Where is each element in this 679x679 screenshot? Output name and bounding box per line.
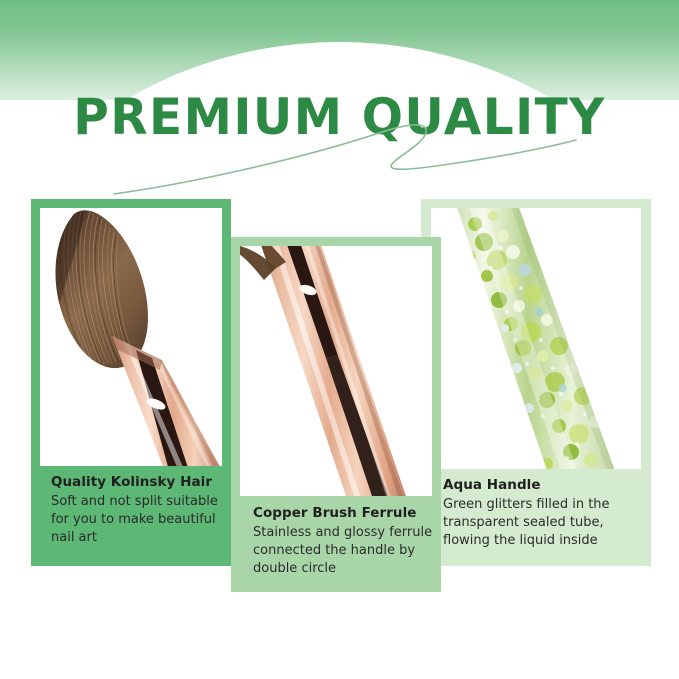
feature-card-aqua-handle: Aqua Handle Green glitters filled in the…	[421, 199, 651, 566]
aqua-handle-text-block: Aqua Handle Green glitters filled in the…	[443, 477, 643, 550]
ferrule-description: Stainless and glossy ferrule connected t…	[253, 524, 435, 578]
ferrule-text-block: Copper Brush Ferrule Stainless and gloss…	[253, 505, 435, 578]
kolinsky-hair-text-block: Quality Kolinsky Hair Soft and not split…	[51, 474, 227, 547]
ferrule-photo-panel	[240, 246, 432, 496]
kolinsky-hair-description: Soft and not split suitable for you to m…	[51, 493, 227, 547]
aqua-handle-photo-panel	[431, 208, 641, 469]
aqua-handle-description: Green glitters filled in the transparent…	[443, 496, 643, 550]
page-title: PREMIUM QUALITY	[10, 92, 669, 142]
header-banner	[0, 0, 679, 100]
kolinsky-brush-head-photo	[40, 208, 222, 466]
rose-gold-ferrule-photo	[240, 246, 432, 496]
ferrule-title: Copper Brush Ferrule	[253, 505, 435, 522]
kolinsky-hair-photo-panel	[40, 208, 222, 466]
title-block: PREMIUM QUALITY	[0, 92, 679, 142]
green-glitter-aqua-handle-photo	[431, 208, 641, 469]
aqua-handle-title: Aqua Handle	[443, 477, 643, 494]
feature-card-copper-ferrule: Copper Brush Ferrule Stainless and gloss…	[231, 237, 441, 592]
feature-card-kolinsky-hair: Quality Kolinsky Hair Soft and not split…	[31, 199, 231, 566]
kolinsky-hair-title: Quality Kolinsky Hair	[51, 474, 227, 491]
infographic-canvas: PREMIUM QUALITY	[0, 0, 679, 679]
